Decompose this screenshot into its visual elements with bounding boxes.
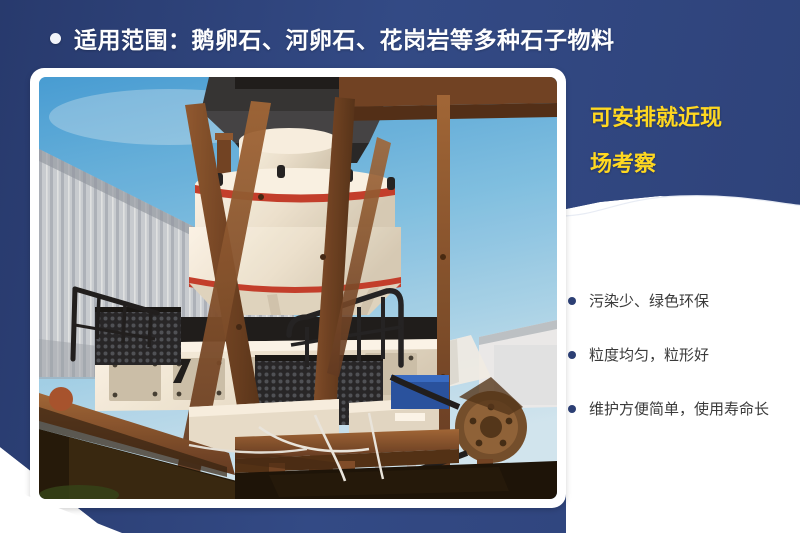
list-item: 粒度均匀，粒形好: [568, 342, 800, 369]
header-title: 适用范围：鹅卵石、河卵石、花岗岩等多种石子物料: [74, 21, 615, 55]
dot-icon: [568, 297, 576, 305]
feature-label: 维护方便简单，使用寿命长: [589, 396, 785, 423]
promo-text: 可安排就近现 场考察: [590, 95, 790, 187]
dot-icon: [568, 405, 576, 413]
feature-label: 粒度均匀，粒形好: [589, 342, 785, 369]
dot-icon: [50, 33, 61, 44]
list-item: 维护方便简单，使用寿命长: [568, 396, 800, 423]
header: 适用范围：鹅卵石、河卵石、花岗岩等多种石子物料: [0, 16, 615, 60]
list-item: 污染少、绿色环保: [568, 288, 800, 315]
photo-frame: [30, 68, 566, 508]
promo-banner: 适用范围：鹅卵石、河卵石、花岗岩等多种石子物料: [0, 0, 800, 533]
promo-line-1: 可安排就近现: [590, 95, 790, 141]
feature-label: 污染少、绿色环保: [589, 288, 785, 315]
feature-list: 污染少、绿色环保 粒度均匀，粒形好 维护方便简单，使用寿命长: [568, 288, 800, 423]
dot-icon: [568, 351, 576, 359]
promo-line-2: 场考察: [590, 141, 790, 187]
machine-photo: [39, 77, 557, 499]
